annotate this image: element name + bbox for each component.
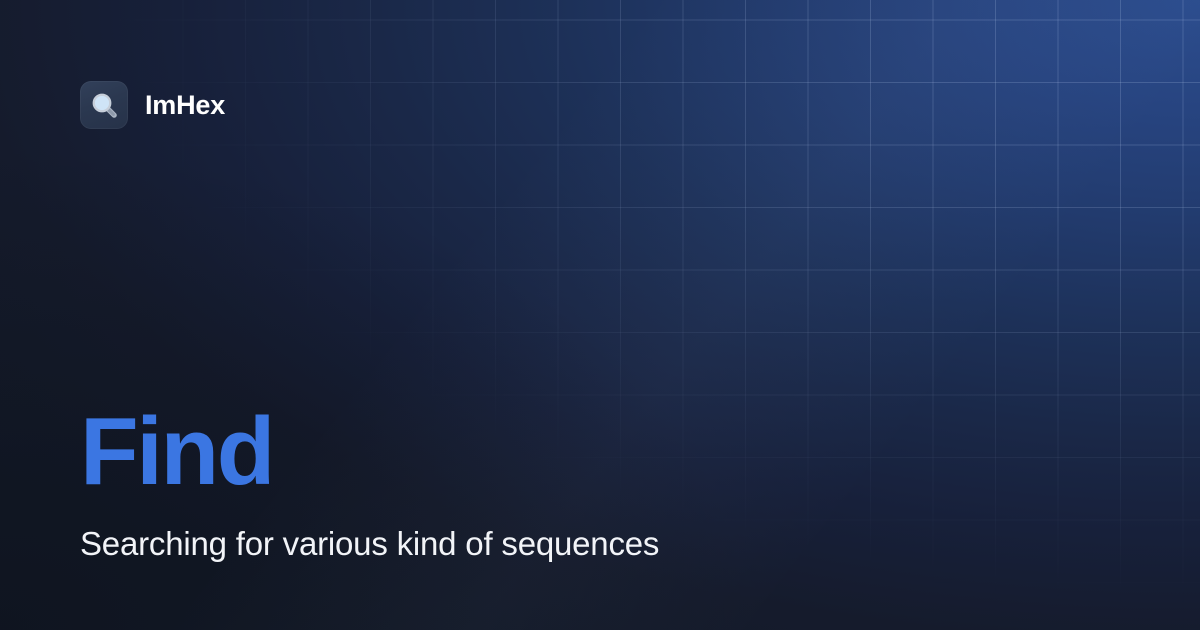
magnifying-glass-icon bbox=[80, 81, 128, 129]
hero-block: Find Searching for various kind of seque… bbox=[80, 404, 1120, 564]
brand-name: ImHex bbox=[145, 92, 225, 119]
card-content: ImHex Find Searching for various kind of… bbox=[0, 0, 1200, 630]
page-subtitle: Searching for various kind of sequences bbox=[80, 500, 1120, 564]
open-graph-card: ImHex Find Searching for various kind of… bbox=[0, 0, 1200, 630]
page-title: Find bbox=[80, 404, 1120, 500]
brand: ImHex bbox=[80, 81, 225, 129]
